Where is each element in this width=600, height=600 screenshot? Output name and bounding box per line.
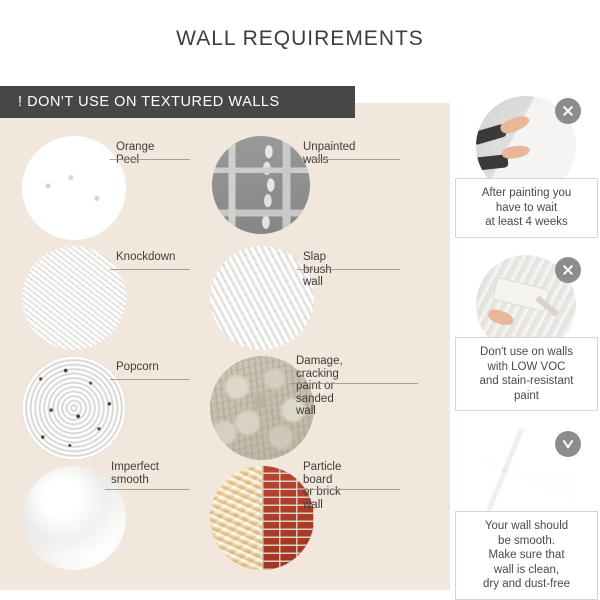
texture-label-underline (105, 489, 190, 490)
sidebar-card-text: After painting you have to wait at least… (455, 178, 598, 238)
page-title: WALL REQUIREMENTS (0, 27, 600, 51)
particle-board-brick-photo (210, 466, 314, 570)
texture-label: Unpainted walls (303, 141, 355, 166)
roller-body-shape (492, 277, 550, 312)
texture-label-underline (297, 159, 400, 160)
texture-label-underline (290, 383, 418, 384)
cross-icon (555, 257, 581, 283)
hand-shape (501, 144, 531, 161)
texture-grid: Orange Peel Unpainted walls Knockdown Sl… (0, 118, 450, 590)
particle-board-half (210, 466, 262, 570)
texture-label: Imperfect smooth (111, 461, 159, 486)
texture-label: Orange Peel (116, 141, 154, 166)
warning-banner-label: ! DON'T USE ON TEXTURED WALLS (18, 94, 280, 110)
texture-label-underline (110, 379, 190, 380)
slap-brush-texture (210, 246, 314, 350)
texture-label: Particle board or brick wall (303, 461, 341, 511)
requirements-sidebar: After painting you have to wait at least… (455, 96, 600, 596)
warning-banner: ! DON'T USE ON TEXTURED WALLS (0, 86, 355, 118)
unpainted-walls-photo (212, 136, 310, 234)
texture-label: Popcorn (116, 361, 159, 374)
hand-shape (487, 307, 516, 327)
cross-icon (555, 98, 581, 124)
orange-peel-texture (22, 136, 126, 240)
texture-label-underline (110, 159, 190, 160)
sidebar-card-text: Don't use on walls with LOW VOC and stai… (455, 337, 598, 411)
check-icon (555, 431, 581, 457)
texture-label-underline (110, 269, 190, 270)
texture-label-underline (297, 269, 400, 270)
sidebar-card-text: Your wall should be smooth. Make sure th… (455, 511, 598, 600)
texture-label: Knockdown (116, 251, 175, 264)
popcorn-texture (22, 356, 126, 460)
knockdown-texture (22, 246, 126, 350)
texture-label: Damage, cracking paint or sanded wall (296, 355, 343, 418)
hand-shape (499, 113, 532, 136)
infographic-page: WALL REQUIREMENTS ! DON'T USE ON TEXTURE… (0, 0, 600, 600)
texture-label-underline (297, 489, 400, 490)
